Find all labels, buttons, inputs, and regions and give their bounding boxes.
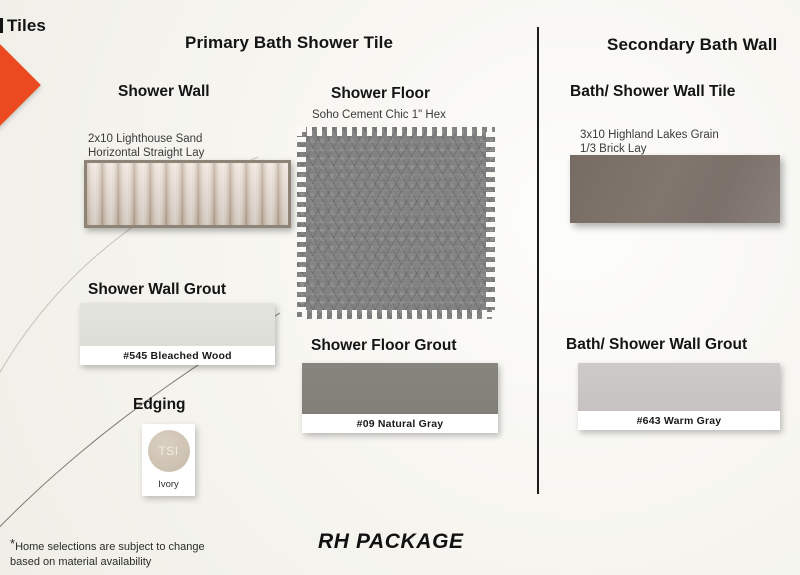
edging-brand-text: TSI <box>158 444 178 458</box>
design-board: Tiles Primary Bath Shower Tile Shower Wa… <box>0 0 800 575</box>
corner-section-label: Tiles <box>0 16 46 36</box>
shower-wall-grout-card: #545 Bleached Wood <box>80 303 275 365</box>
corner-label-bar <box>0 18 3 33</box>
disclaimer-text: Home selections are subject to change ba… <box>10 541 205 568</box>
shower-wall-grout-label: #545 Bleached Wood <box>80 346 275 365</box>
edging-brand-dot: TSI <box>148 430 190 472</box>
column-divider <box>537 27 539 494</box>
secondary-wall-grout-label: #643 Warm Gray <box>578 411 780 430</box>
shower-wall-heading: Shower Wall <box>118 83 210 101</box>
shower-floor-grout-heading: Shower Floor Grout <box>311 337 457 355</box>
hex-edge-bottom <box>297 310 495 319</box>
disclaimer-note: *Home selections are subject to change b… <box>10 536 205 570</box>
shower-floor-grout-card: #09 Natural Gray <box>302 363 498 433</box>
shower-wall-grout-heading: Shower Wall Grout <box>88 281 226 299</box>
secondary-wall-tile-heading: Bath/ Shower Wall Tile <box>570 83 735 101</box>
package-title: RH PACKAGE <box>318 530 464 554</box>
corner-label-text: Tiles <box>7 16 46 35</box>
edging-color-name: Ivory <box>158 479 179 490</box>
hex-edge-top <box>297 127 495 136</box>
secondary-wall-tile-spec: 3x10 Highland Lakes Grain 1/3 Brick Lay <box>580 128 719 156</box>
shower-wall-spec: 2x10 Lighthouse Sand Horizontal Straight… <box>88 132 204 160</box>
secondary-wall-tile-swatch <box>570 155 780 223</box>
shower-wall-tile-swatch <box>84 160 291 228</box>
shower-floor-grout-label: #09 Natural Gray <box>302 414 498 433</box>
hex-edge-left <box>297 127 306 319</box>
hex-edge-right <box>486 127 495 319</box>
secondary-wall-grout-heading: Bath/ Shower Wall Grout <box>566 336 747 354</box>
secondary-wall-grout-card: #643 Warm Gray <box>578 363 780 430</box>
shower-floor-spec: Soho Cement Chic 1" Hex <box>312 109 446 121</box>
primary-column-title: Primary Bath Shower Tile <box>185 33 393 53</box>
shower-floor-heading: Shower Floor <box>331 85 430 103</box>
edging-heading: Edging <box>133 396 186 414</box>
shower-floor-tile-swatch <box>297 127 495 319</box>
orange-diamond-accent <box>0 41 41 129</box>
secondary-column-title: Secondary Bath Wall <box>607 35 777 55</box>
edging-swatch-chip: TSI Ivory <box>142 424 195 496</box>
